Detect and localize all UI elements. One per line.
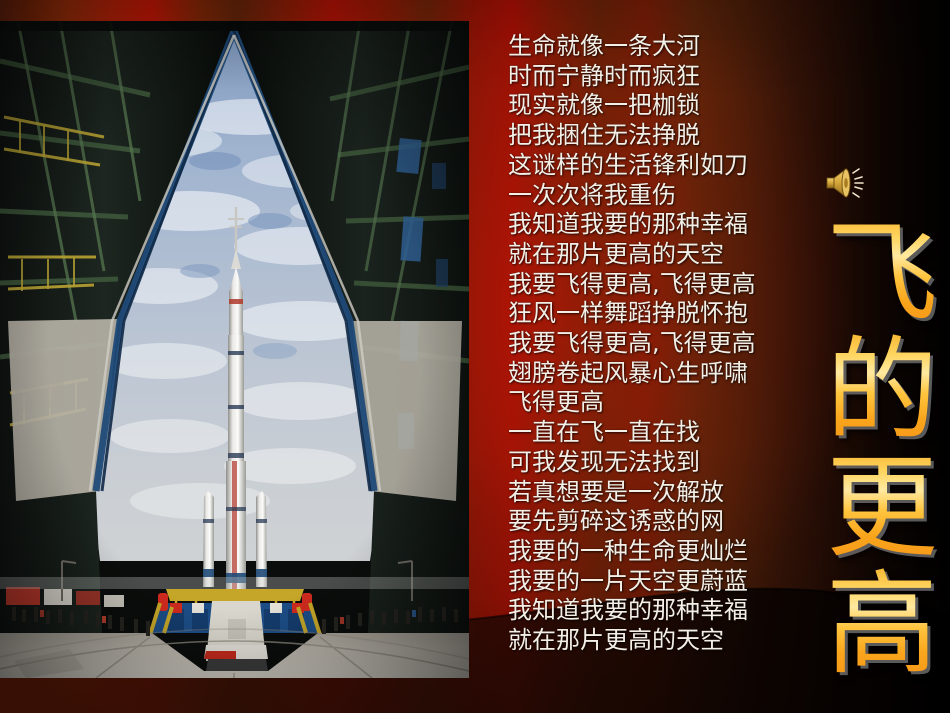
lyric-line: 时而宁静时而疯狂: [508, 62, 808, 92]
title-char: 更: [820, 450, 944, 567]
lyrics-text-block: 生命就像一条大河 时而宁静时而疯狂 现实就像一把枷锁 把我捆住无法挣脱 这谜样的…: [508, 32, 808, 656]
lyric-line: 我要的一种生命更灿烂: [508, 537, 808, 567]
lyric-line: 一次次将我重伤: [508, 181, 808, 211]
lyric-line: 生命就像一条大河: [508, 32, 808, 62]
title-char: 的: [820, 333, 944, 450]
lyric-line: 把我捆住无法挣脱: [508, 121, 808, 151]
lyric-line: 我要的一片天空更蔚蓝: [508, 567, 808, 597]
lyric-line: 现实就像一把枷锁: [508, 91, 808, 121]
lyric-line: 一直在飞一直在找: [508, 418, 808, 448]
lyric-line: 我知道我要的那种幸福: [508, 596, 808, 626]
lyric-line: 我要飞得更高,飞得更高: [508, 329, 808, 359]
lyric-line: 就在那片更高的天空: [508, 626, 808, 656]
lyric-line: 可我发现无法找到: [508, 448, 808, 478]
title-char: 高: [820, 567, 944, 684]
lyric-line: 若真想要是一次解放: [508, 478, 808, 508]
presentation-slide: 生命就像一条大河 时而宁静时而疯狂 现实就像一把枷锁 把我捆住无法挣脱 这谜样的…: [0, 0, 950, 713]
lyric-line: 我知道我要的那种幸福: [508, 210, 808, 240]
lyric-line: 这谜样的生活锋利如刀: [508, 151, 808, 181]
speaker-sound-icon[interactable]: [824, 165, 870, 201]
lyric-line: 飞得更高: [508, 388, 808, 418]
lyric-line: 我要飞得更高,飞得更高: [508, 270, 808, 300]
lyric-line: 要先剪碎这诱惑的网: [508, 507, 808, 537]
lyric-line: 狂风一样舞蹈挣脱怀抱: [508, 299, 808, 329]
lyric-line: 翅膀卷起风暴心生呼啸: [508, 359, 808, 389]
title-char: 飞: [820, 216, 944, 333]
slide-title-vertical: 飞 的 更 高: [820, 216, 944, 684]
lyric-line: 就在那片更高的天空: [508, 240, 808, 270]
rocket-launch-photo[interactable]: [0, 21, 469, 678]
